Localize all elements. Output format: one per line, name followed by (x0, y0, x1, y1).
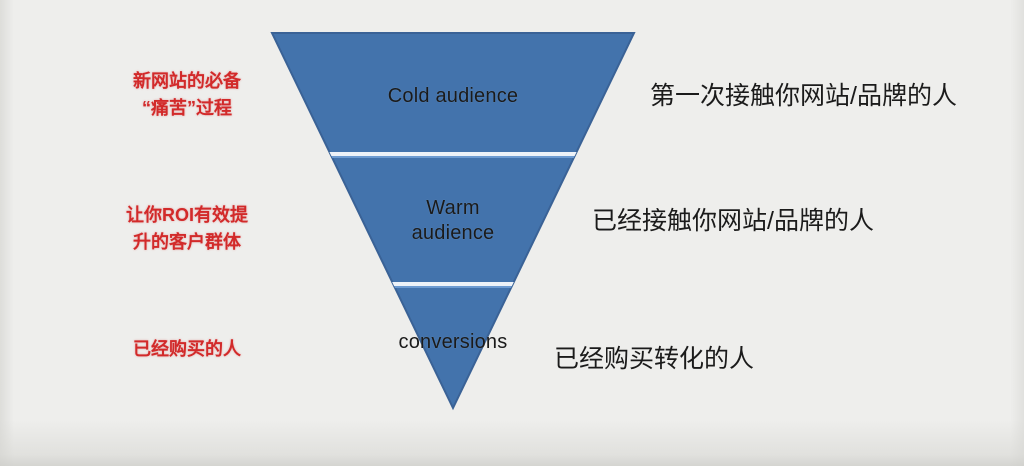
left-edge-shading (0, 0, 14, 466)
right-note-conversions: 已经购买转化的人 (554, 343, 754, 375)
divider-warm-conversions (262, 282, 644, 286)
funnel-stage-label-warm: Warm audience (262, 196, 644, 246)
left-note-conversions: 已经购买的人 (112, 336, 262, 363)
right-edge-shading (1010, 0, 1024, 466)
divider-cold-warm-accent (262, 156, 644, 158)
right-note-cold-audience: 第一次接触你网站/品牌的人 (650, 80, 957, 112)
left-note-warm-audience: 让你ROI有效提 升的客户群体 (112, 202, 262, 256)
divider-warm-conversions-accent (262, 286, 644, 288)
bottom-edge-shading (0, 420, 1024, 466)
divider-cold-warm (262, 152, 644, 156)
funnel-stage-label-cold: Cold audience (262, 84, 644, 109)
right-note-warm-audience: 已经接触你网站/品牌的人 (592, 205, 874, 237)
slide-canvas: 新网站的必备 “痛苦”过程 让你ROI有效提 升的客户群体 已经购买的人 (0, 0, 1024, 466)
left-note-cold-audience: 新网站的必备 “痛苦”过程 (112, 68, 262, 122)
